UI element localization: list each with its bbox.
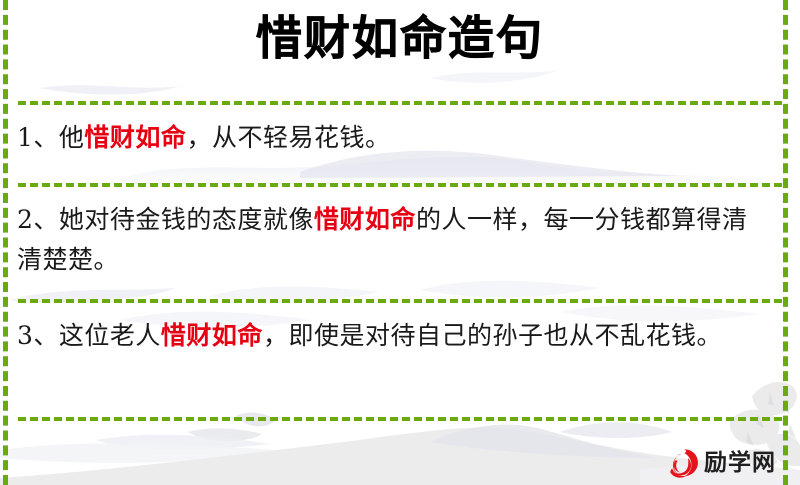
divider-1 <box>18 101 782 105</box>
divider-4 <box>18 417 782 421</box>
page-title-container: 惜财如命造句 <box>0 14 800 62</box>
example-sentence-3: 3、这位老人惜财如命，即使是对待自己的孙子也从不乱花钱。 <box>17 316 769 356</box>
flame-swirl-icon <box>668 448 699 479</box>
worksheet-page: 惜财如命造句 1、他惜财如命，从不轻易花钱。 2、她对待金钱的态度就像惜财如命的… <box>0 0 800 485</box>
sentence-3-prefix: 这位老人 <box>59 321 161 350</box>
page-title: 惜财如命造句 <box>256 14 544 62</box>
sentence-3-keyword: 惜财如命 <box>161 321 263 350</box>
divider-2 <box>18 183 782 187</box>
sentence-1-prefix: 他 <box>59 123 85 152</box>
right-dashed-rail <box>783 0 788 485</box>
sentence-1-index: 1、 <box>17 123 59 152</box>
sentence-1-suffix: ，从不轻易花钱。 <box>186 123 390 152</box>
example-sentence-1: 1、他惜财如命，从不轻易花钱。 <box>17 118 769 158</box>
divider-3 <box>18 299 782 303</box>
sentence-3-suffix: ，即使是对待自己的孙子也从不乱花钱。 <box>263 321 722 350</box>
sentence-3-index: 3、 <box>17 321 59 350</box>
sentence-2-index: 2、 <box>17 205 59 234</box>
logo-text: 励学网 <box>704 452 776 475</box>
example-sentence-2: 2、她对待金钱的态度就像惜财如命的人一样，每一分钱都算得清清楚楚。 <box>17 200 769 280</box>
sentence-2-prefix: 她对待金钱的态度就像 <box>59 205 314 234</box>
site-logo[interactable]: 励学网 <box>668 446 776 480</box>
left-dashed-rail <box>3 0 8 485</box>
sentence-1-keyword: 惜财如命 <box>84 123 186 152</box>
sentence-2-keyword: 惜财如命 <box>314 205 416 234</box>
